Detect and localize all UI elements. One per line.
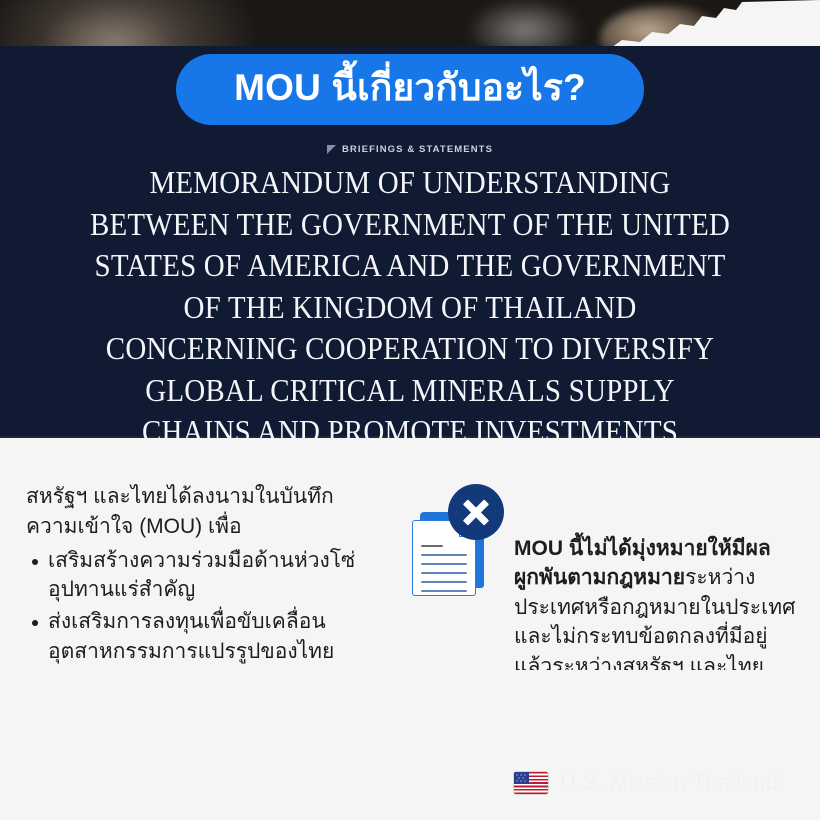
tag-icon [327, 145, 336, 154]
list-item: เสริมสร้างความร่วมมือด้านห่วงโซ่อุปทานแร… [48, 546, 388, 606]
list-item: ส่งเสริมการลงทุนเพื่อขับเคลื่อนอุตสาหกรร… [48, 607, 388, 667]
x-mark-icon [448, 484, 504, 540]
flag-stars [515, 773, 528, 783]
left-lead-text: สหรัฐฯ และไทยได้ลงนามในบันทึกความเข้าใจ … [26, 482, 356, 542]
kicker-label: BRIEFINGS & STATEMENTS [342, 144, 493, 155]
document-text-line [421, 563, 467, 565]
document-with-x-icon [408, 484, 504, 592]
navy-title-block: MOU นี้เกี่ยวกับอะไร? BRIEFINGS & STATEM… [0, 46, 820, 438]
us-flag-icon [514, 772, 548, 794]
document-text-line [421, 572, 467, 574]
document-title: MEMORANDUM OF UNDERSTANDING BETWEEN THE … [88, 162, 732, 453]
question-banner: MOU นี้เกี่ยวกับอะไร? [176, 54, 644, 125]
kicker-row: BRIEFINGS & STATEMENTS [0, 144, 820, 155]
footer-label: U.S. Mission Thailand [560, 770, 778, 796]
left-column: สหรัฐฯ และไทยได้ลงนามในบันทึกความเข้าใจ … [0, 482, 400, 669]
document-text-line [421, 590, 467, 592]
infographic-canvas: MOU นี้เกี่ยวกับอะไร? BRIEFINGS & STATEM… [0, 0, 820, 820]
document-text-line [421, 545, 443, 547]
content-columns: สหรัฐฯ และไทยได้ลงนามในบันทึกความเข้าใจ … [0, 438, 820, 681]
document-text-line [421, 554, 467, 556]
left-bullet-list: เสริมสร้างความร่วมมือด้านห่วงโซ่อุปทานแร… [26, 546, 400, 667]
document-text-line [421, 581, 467, 583]
right-column: MOU นี้ไม่ได้มุ่งหมายให้มีผลผูกพันตามกฎห… [400, 482, 820, 681]
footer-brand: U.S. Mission Thailand [514, 770, 778, 796]
content-section: สหรัฐฯ และไทยได้ลงนามในบันทึกความเข้าใจ … [0, 438, 820, 820]
banner-title: MOU นี้เกี่ยวกับอะไร? [222, 68, 598, 107]
